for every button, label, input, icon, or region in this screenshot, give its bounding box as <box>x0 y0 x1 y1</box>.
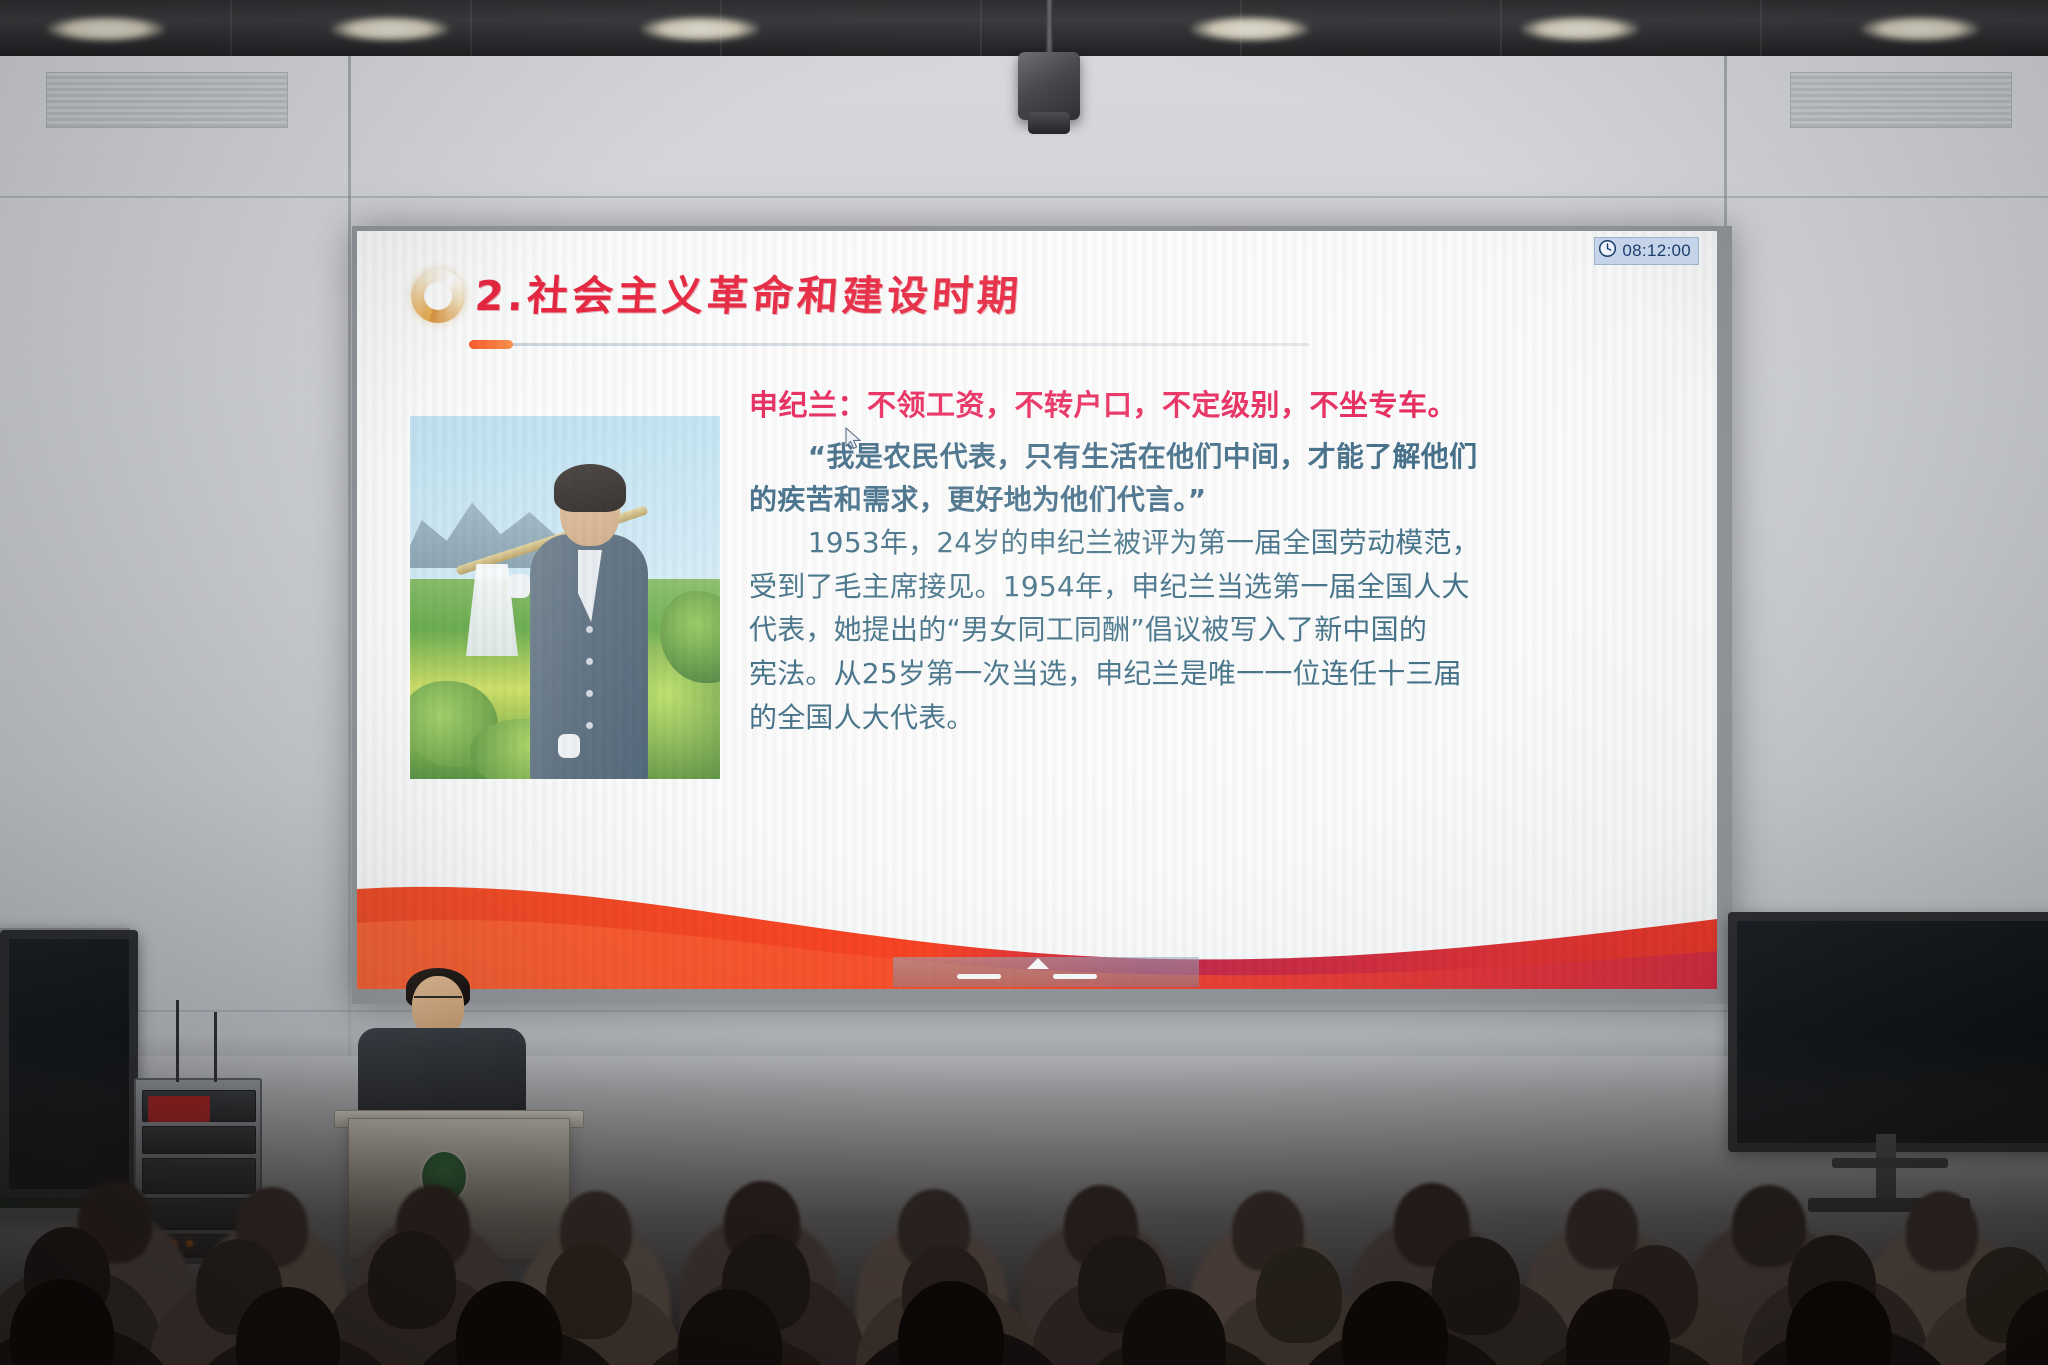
projection-screen-frame: 08:12:00 2.社会主义革命和建设时期 <box>352 226 1732 1004</box>
lecture-hall-scene: 08:12:00 2.社会主义革命和建设时期 <box>0 0 2048 1365</box>
slide-body-line: 的全国人大代表。 <box>749 696 1654 740</box>
slide-nav-bar[interactable] <box>1053 974 1097 979</box>
ceiling-light <box>46 16 166 42</box>
ceiling-light <box>1190 16 1310 42</box>
ceiling-light <box>1860 16 1980 42</box>
title-ring-ornament <box>411 269 465 323</box>
slide-clock-badge[interactable]: 08:12:00 <box>1594 237 1699 265</box>
presenter-glasses <box>414 996 462 1009</box>
slide-body-line: 代表，她提出的“男女同工同酬”倡议被写入了新中国的 <box>749 608 1654 652</box>
slide-quote-line: “我是农民代表，只有生活在他们中间，才能了解他们 <box>749 436 1654 479</box>
page-title: 2.社会主义革命和建设时期 <box>474 276 1024 317</box>
ceiling-light <box>640 16 760 42</box>
presentation-slide[interactable]: 08:12:00 2.社会主义革命和建设时期 <box>357 231 1717 989</box>
shen-jilan-photo <box>410 416 720 779</box>
slide-lead-line: 申纪兰：不领工资，不转户口，不定级别，不坐专车。 <box>749 391 1654 420</box>
wall-seam <box>348 56 351 1056</box>
slide-text-block: 申纪兰：不领工资，不转户口，不定级别，不坐专车。 “我是农民代表，只有生活在他们… <box>749 391 1654 739</box>
wall-vent <box>1790 72 2012 128</box>
clock-icon <box>1598 239 1617 263</box>
ceiling-light <box>330 16 450 42</box>
slide-body-line: 宪法。从25岁第一次当选，申纪兰是唯一一位连任十三届 <box>749 652 1654 696</box>
slide-body-line: 1953年，24岁的申纪兰被评为第一届全国劳动模范， <box>749 521 1654 565</box>
ceiling-projector <box>1018 52 1080 120</box>
slide-title-row: 2.社会主义革命和建设时期 <box>411 269 1022 323</box>
wall-vent <box>46 72 288 128</box>
ceiling <box>0 0 2048 58</box>
wall-seam <box>0 196 2048 198</box>
slide-quote-line: 的疾苦和需求，更好地为他们代言。” <box>749 479 1654 522</box>
mouse-pointer <box>844 427 864 458</box>
title-underline <box>469 343 1309 346</box>
slide-nav-up-icon[interactable] <box>1027 958 1049 969</box>
clock-time: 08:12:00 <box>1622 241 1691 261</box>
ceiling-light <box>1520 16 1640 42</box>
projector-lens <box>1028 112 1070 134</box>
projector-mount-rod <box>1046 0 1053 60</box>
audience <box>0 1035 2048 1365</box>
slide-footer-wave <box>357 871 1717 989</box>
slide-nav-bar[interactable] <box>957 974 1001 979</box>
slide-body-line: 受到了毛主席接见。1954年，申纪兰当选第一届全国人大 <box>749 565 1654 609</box>
